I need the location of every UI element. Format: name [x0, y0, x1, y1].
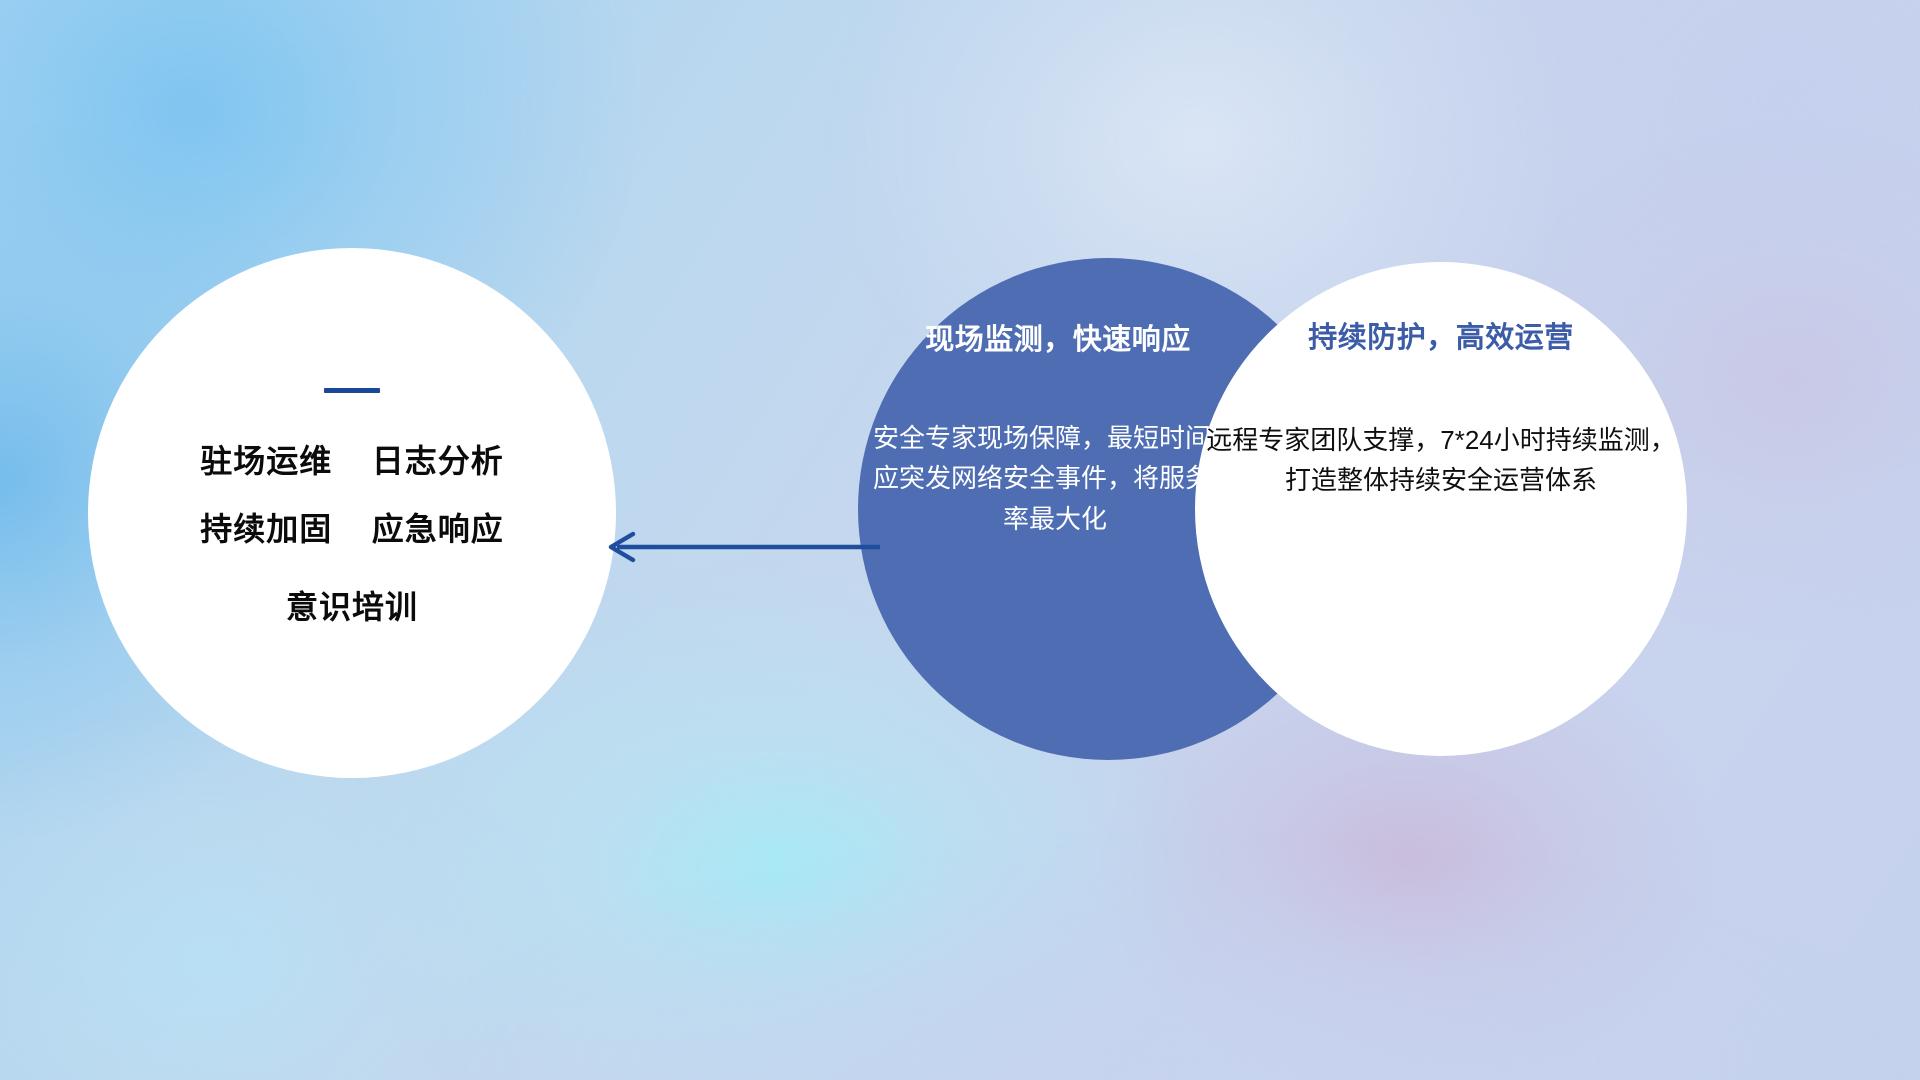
- right-card-body: 远程专家团队支撑，7*24小时持续监测，打造整体持续安全运营体系: [1195, 420, 1687, 501]
- right-card: 持续防护，高效运营 远程专家团队支撑，7*24小时持续监测，打造整体持续安全运营…: [1195, 262, 1687, 756]
- right-card-title: 持续防护，高效运营: [1195, 314, 1687, 356]
- capability-line-2: 持续加固 应急响应: [200, 513, 504, 545]
- slide-canvas: 驻场运维 日志分析 持续加固 应急响应 意识培训 现场监测，快速响应 安全专家现…: [0, 0, 1920, 1080]
- accent-dash-icon: [324, 388, 380, 393]
- left-card: 驻场运维 日志分析 持续加固 应急响应 意识培训: [88, 248, 616, 778]
- arrow-right-to-left-icon: [595, 515, 885, 579]
- capability-line-3: 意识培训: [286, 591, 418, 623]
- capability-line-1: 驻场运维 日志分析: [200, 445, 504, 477]
- middle-card-body: 安全专家现场保障，最短时间响应突发网络安全事件，将服务效率最大化: [866, 418, 1244, 539]
